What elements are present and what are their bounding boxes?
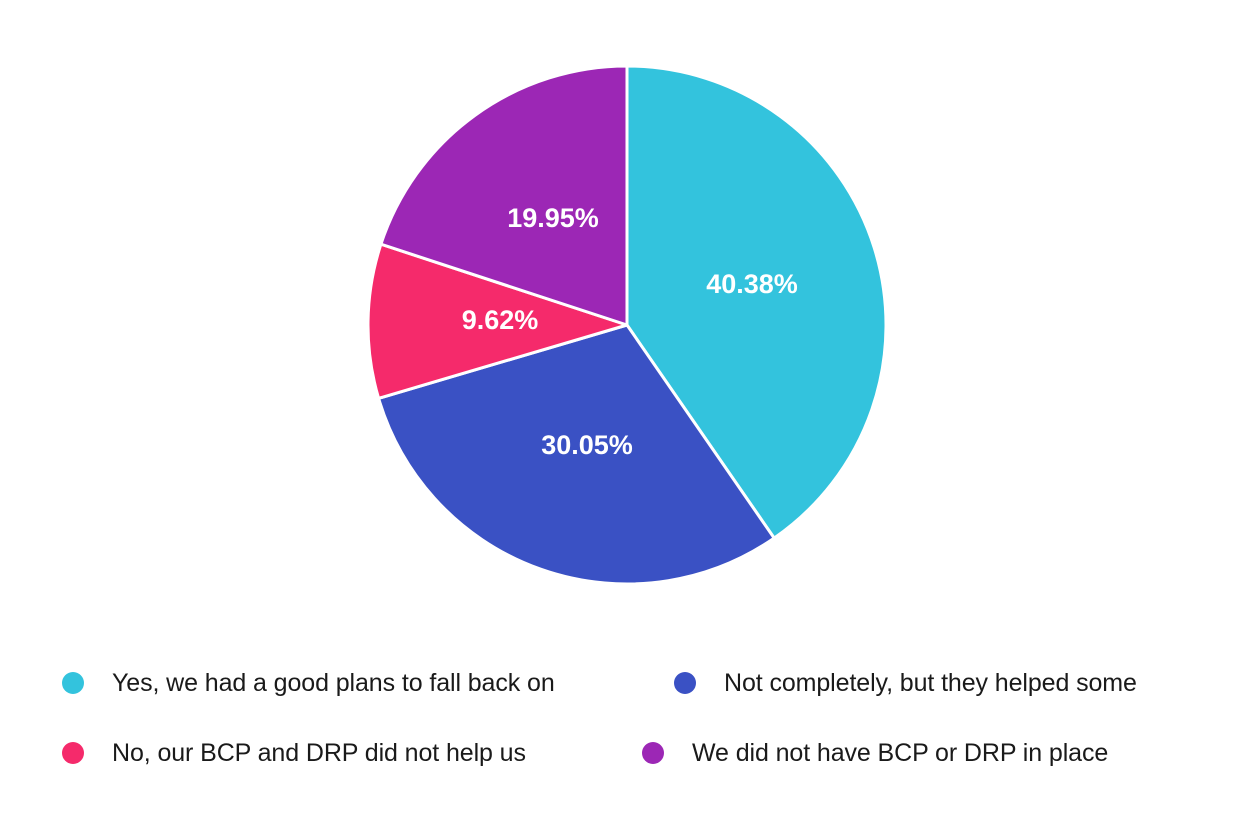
legend-swatch-icon-0 <box>62 672 84 694</box>
pie-slice-value-label-0: 40.38% <box>706 269 798 299</box>
legend-label-2: No, our BCP and DRP did not help us <box>112 739 526 768</box>
pie-chart-figure: 40.38%30.05%9.62%19.95% Yes, we had a go… <box>0 0 1254 833</box>
legend-label-3: We did not have BCP or DRP in place <box>692 739 1108 768</box>
legend-swatch-icon-3 <box>642 742 664 764</box>
legend-item-1[interactable]: Not completely, but they helped some <box>642 648 1202 718</box>
pie-chart-plot-area: 40.38%30.05%9.62%19.95% <box>0 0 1254 620</box>
pie-slice-value-label-3: 19.95% <box>507 203 599 233</box>
legend-label-1: Not completely, but they helped some <box>724 669 1137 698</box>
pie-chart-svg: 40.38%30.05%9.62%19.95% <box>0 0 1254 620</box>
legend-item-2[interactable]: No, our BCP and DRP did not help us <box>62 718 642 788</box>
chart-legend: Yes, we had a good plans to fall back on… <box>0 648 1254 818</box>
legend-item-3[interactable]: We did not have BCP or DRP in place <box>642 718 1202 788</box>
legend-item-0[interactable]: Yes, we had a good plans to fall back on <box>62 648 642 718</box>
legend-swatch-icon-1 <box>674 672 696 694</box>
pie-slice-value-label-1: 30.05% <box>541 430 633 460</box>
legend-label-0: Yes, we had a good plans to fall back on <box>112 669 555 698</box>
pie-slices-group <box>368 66 886 584</box>
legend-swatch-icon-2 <box>62 742 84 764</box>
pie-slice-value-label-2: 9.62% <box>462 305 539 335</box>
